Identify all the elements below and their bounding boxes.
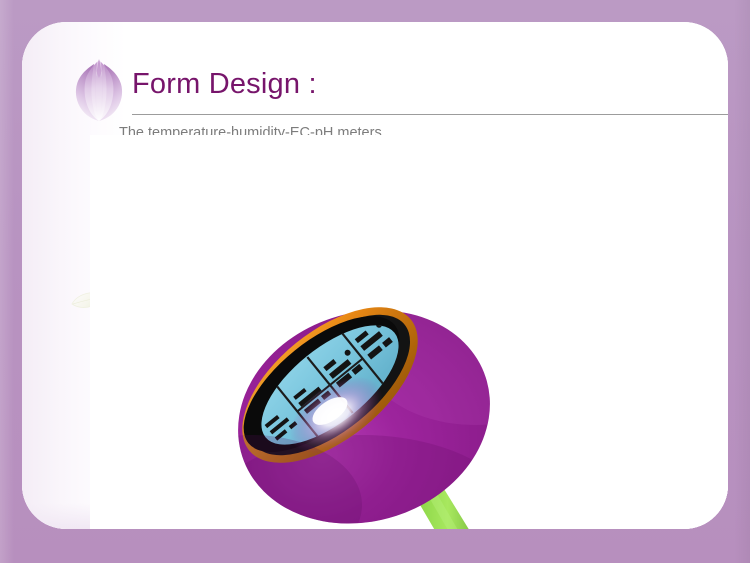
figure-container — [90, 135, 728, 529]
slide-content-panel: Form Design : The temperature-humidity-E… — [22, 22, 728, 529]
slide-title: Form Design : — [132, 69, 317, 101]
title-divider — [132, 114, 728, 115]
lotus-flower-icon — [70, 58, 128, 122]
figure-canvas — [112, 157, 728, 529]
meter-device-render — [212, 275, 517, 529]
presentation-slide: Form Design : The temperature-humidity-E… — [0, 0, 750, 563]
